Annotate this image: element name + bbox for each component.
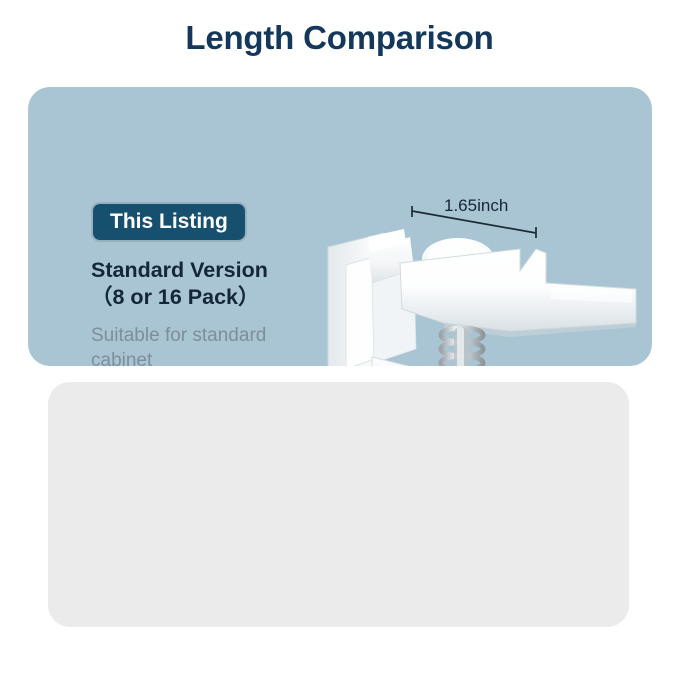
badge-this-listing: This Listing bbox=[91, 202, 247, 242]
panel-this-listing: This Listing Standard Version （8 or 16 P… bbox=[28, 87, 652, 366]
panel-other-option: inaya Other Option Extended Length Versi… bbox=[48, 382, 629, 627]
dimension-line-this-listing bbox=[408, 203, 548, 239]
headline-this-listing: Standard Version （8 or 16 Pack） bbox=[91, 257, 341, 312]
product-image-standard-latch bbox=[324, 227, 652, 366]
page-title: Length Comparison bbox=[0, 19, 679, 57]
comparison-infographic: Length Comparison bbox=[0, 0, 679, 679]
subtext-this-listing: Suitable for standard cabinet bbox=[91, 323, 321, 366]
